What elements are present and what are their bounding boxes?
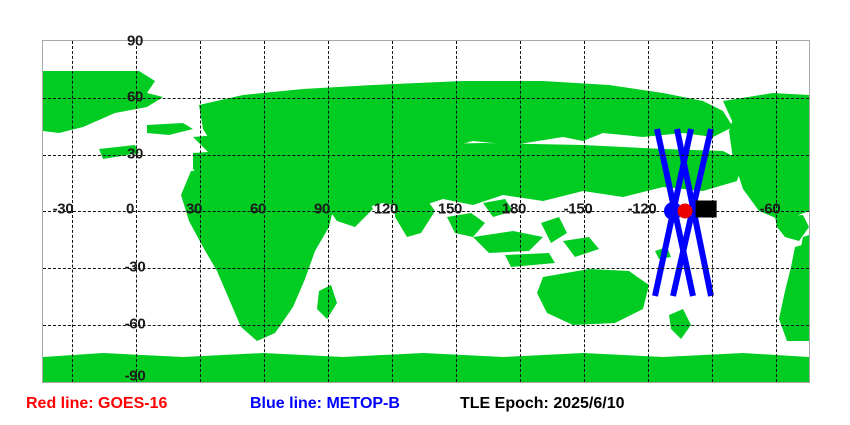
satellite-track-map-page: -30 0 30 60 90 120 150 180 -150 -120 -90… (0, 0, 850, 425)
gridline-lat (43, 325, 809, 326)
lon-tick-120: 120 (374, 201, 398, 218)
lon-tick--120: -120 (628, 201, 657, 218)
legend-red-line-goes16: Red line: GOES-16 (26, 392, 167, 416)
lat-tick-30: 30 (127, 146, 143, 163)
lon-tick-30: 30 (186, 201, 202, 218)
lon-tick-0: 0 (126, 201, 134, 218)
gridline-lat (43, 268, 809, 269)
lat-tick--90: -90 (125, 368, 146, 385)
lon-tick-180: 180 (502, 201, 526, 218)
lon-tick--30: -30 (53, 201, 74, 218)
goes-16-position-marker (678, 204, 693, 219)
legend-bar: Red line: GOES-16 Blue line: METOP-B TLE… (0, 392, 850, 425)
lat-tick-90: 90 (127, 33, 143, 50)
lon-tick-60: 60 (250, 201, 266, 218)
lon-tick-150: 150 (438, 201, 462, 218)
lon-tick--60: -60 (760, 201, 781, 218)
gridline-lat (43, 98, 809, 99)
lon-tick--90: -90 (696, 201, 717, 218)
goes-16-marker-dot (678, 204, 693, 219)
lat-tick--60: -60 (125, 316, 146, 333)
lat-tick--30: -30 (125, 259, 146, 276)
gridline-lat (43, 211, 809, 212)
lon-tick-90: 90 (314, 201, 330, 218)
lon-tick--150: -150 (564, 201, 593, 218)
legend-blue-line-metopb: Blue line: METOP-B (250, 392, 400, 416)
legend-tle-epoch: TLE Epoch: 2025/6/10 (460, 392, 625, 416)
gridline-lat (43, 155, 809, 156)
lat-tick-60: 60 (127, 89, 143, 106)
